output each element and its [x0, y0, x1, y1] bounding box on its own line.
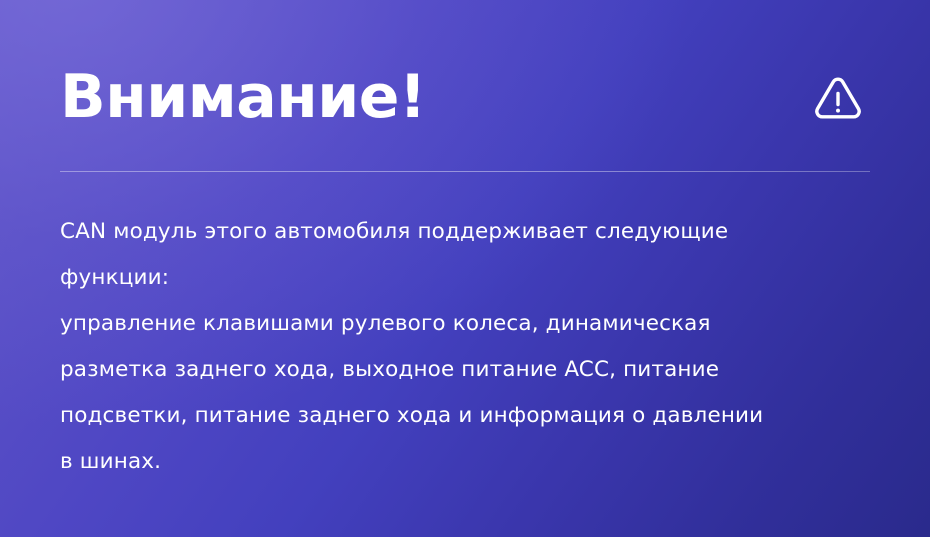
body-line: CAN модуль этого автомобиля поддерживает… [60, 209, 890, 255]
page-title: Внимание! [60, 66, 426, 129]
warning-banner: Внимание! CAN модуль этого автомобиля по… [0, 0, 930, 537]
header-divider [60, 171, 870, 172]
banner-header: Внимание! [60, 52, 870, 142]
banner-body: CAN модуль этого автомобиля поддерживает… [60, 209, 890, 485]
body-line: функции: [60, 255, 890, 301]
body-line: подсветки, питание заднего хода и информ… [60, 393, 890, 439]
body-line: разметка заднего хода, выходное питание … [60, 347, 890, 393]
body-line: в шинах. [60, 439, 890, 485]
warning-triangle-icon [810, 69, 866, 125]
body-line: управление клавишами рулевого колеса, ди… [60, 301, 890, 347]
